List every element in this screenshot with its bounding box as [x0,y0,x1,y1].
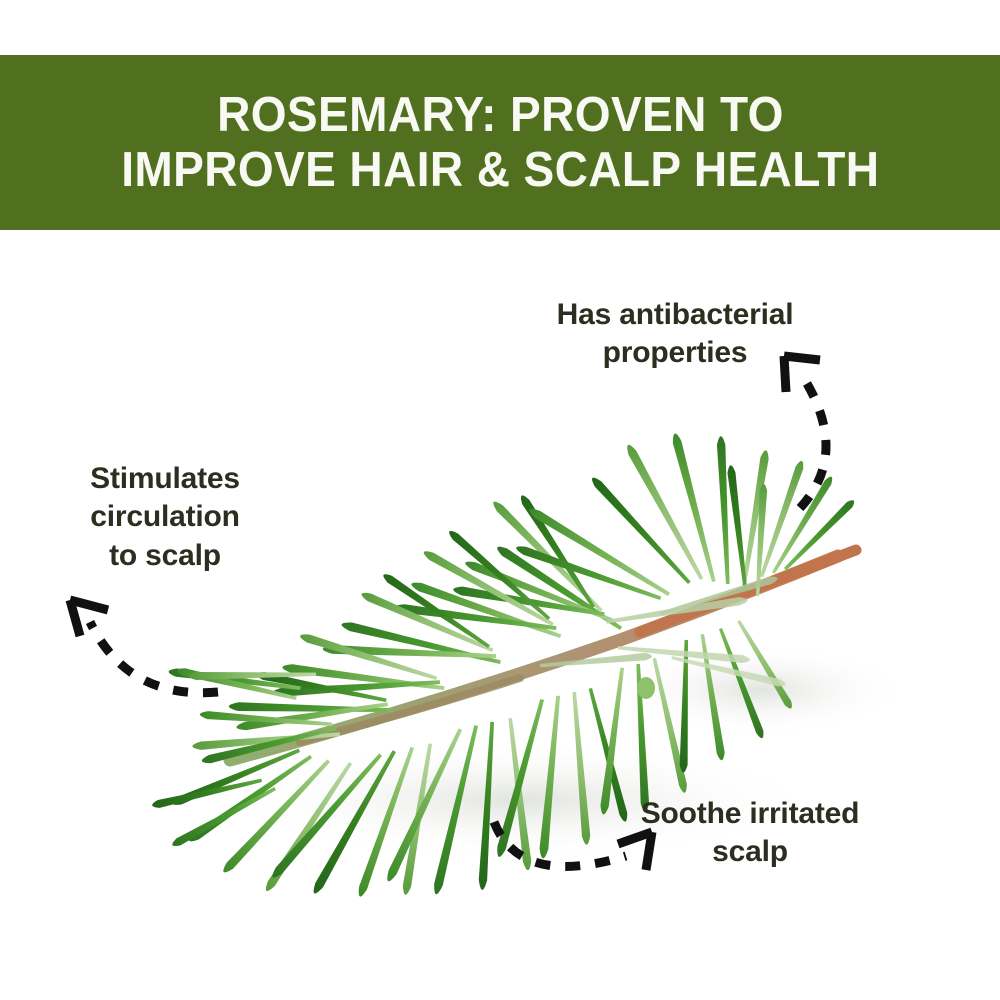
infographic-canvas: ROSEMARY: PROVEN TO IMPROVE HAIR & SCALP… [0,0,1000,1000]
annotation-label-antibacterial: Has antibacterial properties [500,296,850,373]
annotation-label-circulation: Stimulates circulation to scalp [45,460,285,575]
annotation-label-soothe: Soothe irritated scalp [585,795,915,872]
